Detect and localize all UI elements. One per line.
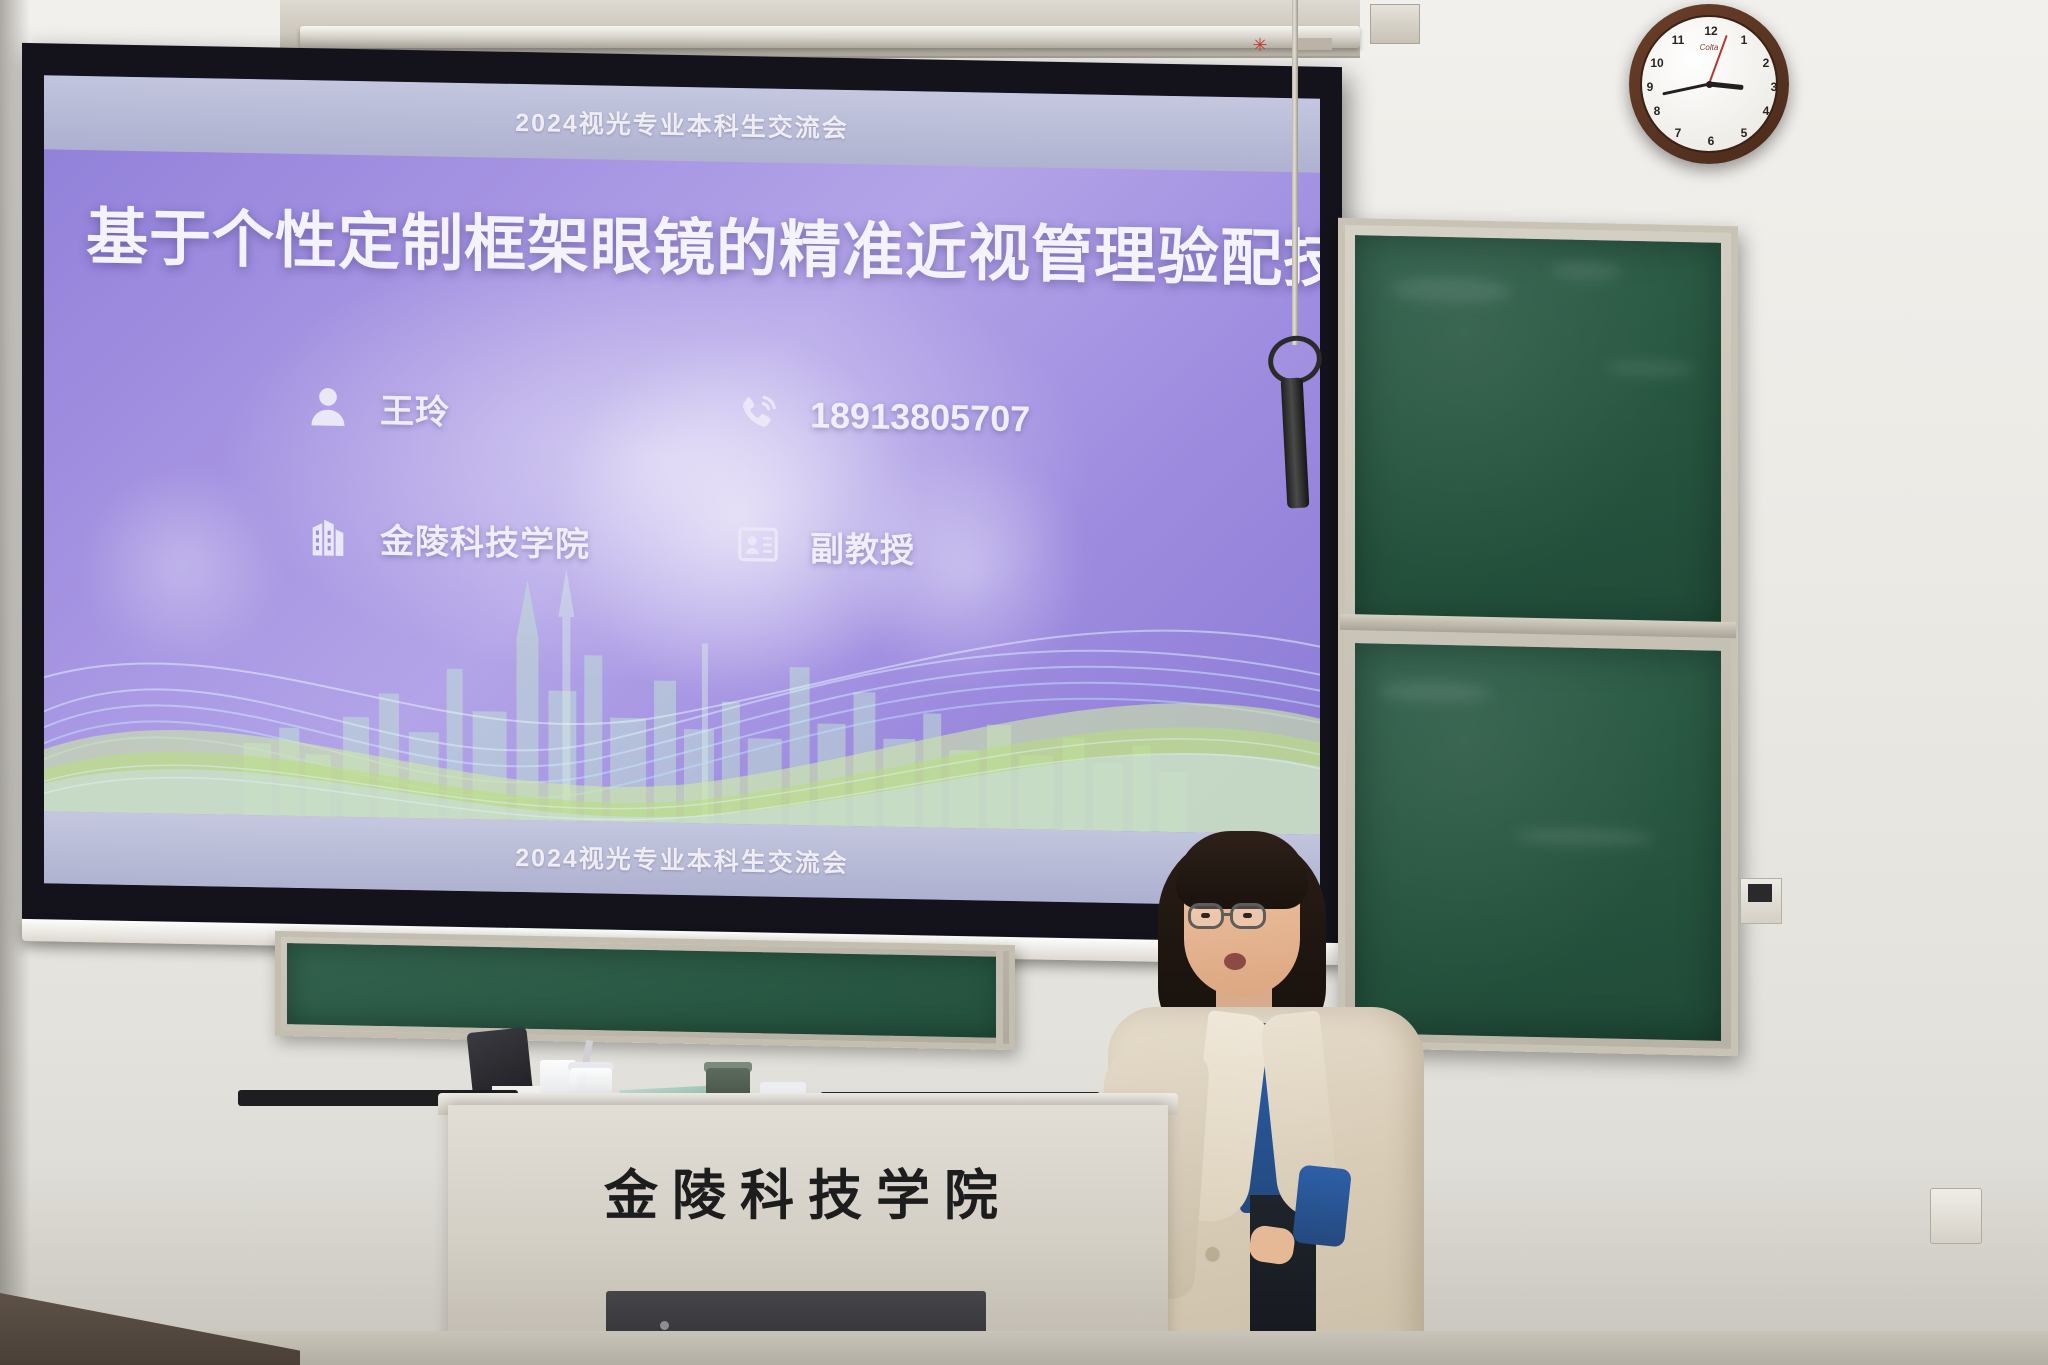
lower-chalkboard-divider [996,951,1003,1044]
id-card-icon [734,518,782,571]
presenter-mouth [1224,953,1246,970]
glasses-bridge [1224,913,1232,916]
slide-title: 基于个性定制框架眼镜的精准近视管理验配技术 [86,186,1310,298]
rail-bracket [1296,38,1332,50]
clock-numeral: 12 [1703,25,1719,37]
banner-bottom-text: 2024视光专业本科生交流会 [515,838,849,880]
presenter-inner-sleeve [1292,1164,1352,1247]
presenter-organization: 金陵科技学院 [380,513,590,566]
info-row-phone: 18913805707 [734,388,1164,448]
clock-numeral: 1 [1736,34,1752,46]
clock-numeral: 5 [1736,127,1752,139]
presentation-slide: 2024视光专业本科生交流会 2024视光专业本科生交流会 基于个性定制框架眼镜… [44,75,1320,906]
clock-hour-hand [1709,82,1743,91]
slide-info-grid: 王玲 18913805707 [304,380,1204,578]
clock-numeral: 10 [1649,57,1665,69]
person-icon [304,380,352,433]
wall-clock: Colta 12 1 2 3 4 5 6 7 8 9 10 11 [1629,4,1789,164]
slide-banner-top: 2024视光专业本科生交流会 [44,75,1320,172]
podium-label: 金陵科技学院 [448,1151,1168,1230]
presenter-job-title: 副教授 [810,521,915,572]
clock-face: Colta 12 1 2 3 4 5 6 7 8 9 10 11 [1640,15,1778,153]
wall-mount-port [1748,884,1772,902]
info-row-job-title: 副教授 [734,518,1164,578]
presenter-eye-left [1201,913,1210,918]
clock-numeral: 2 [1758,57,1774,69]
rail-endcap [1370,4,1420,44]
presenter-phone: 18913805707 [810,394,1030,440]
clock-numeral: 8 [1649,105,1665,117]
chalkboard-panel-upper [1355,235,1721,633]
banner-top-text: 2024视光专业本科生交流会 [515,103,849,145]
clock-minute-hand [1662,83,1710,96]
clock-numeral: 3 [1766,81,1782,93]
presenter-hair-front [1176,831,1308,909]
building-icon [304,510,352,563]
info-row-presenter: 王玲 [304,380,734,440]
lectern: 金陵科技学院 [448,1105,1168,1365]
projector-screen-rail [300,26,1360,48]
microphone-pole [1292,0,1298,345]
clock-numeral: 9 [1642,81,1658,93]
clock-numeral: 11 [1670,34,1686,46]
clock-numeral: 7 [1670,127,1686,139]
wall-baseboard [0,1331,2048,1365]
lower-chalkboard [275,931,1015,1050]
clock-numeral: 4 [1758,105,1774,117]
coat-button [1206,1247,1219,1260]
phone-ring-icon [734,388,782,441]
presenter-name: 王玲 [380,383,450,433]
clock-numeral: 6 [1703,135,1719,147]
clock-brand-label: Colta [1700,43,1719,52]
classroom-scene: ✳ [0,0,2048,1365]
info-row-organization: 金陵科技学院 [304,510,734,570]
clock-center-pin [1706,81,1713,88]
presenter-right-hand [1248,1224,1297,1266]
lower-chalkboard-surface [287,943,1003,1038]
presenter-eye-right [1243,913,1252,918]
rail-indicator-icon: ✳ [1252,38,1268,52]
podium-indicator-light [660,1321,669,1330]
wall-power-socket[interactable] [1930,1188,1982,1244]
